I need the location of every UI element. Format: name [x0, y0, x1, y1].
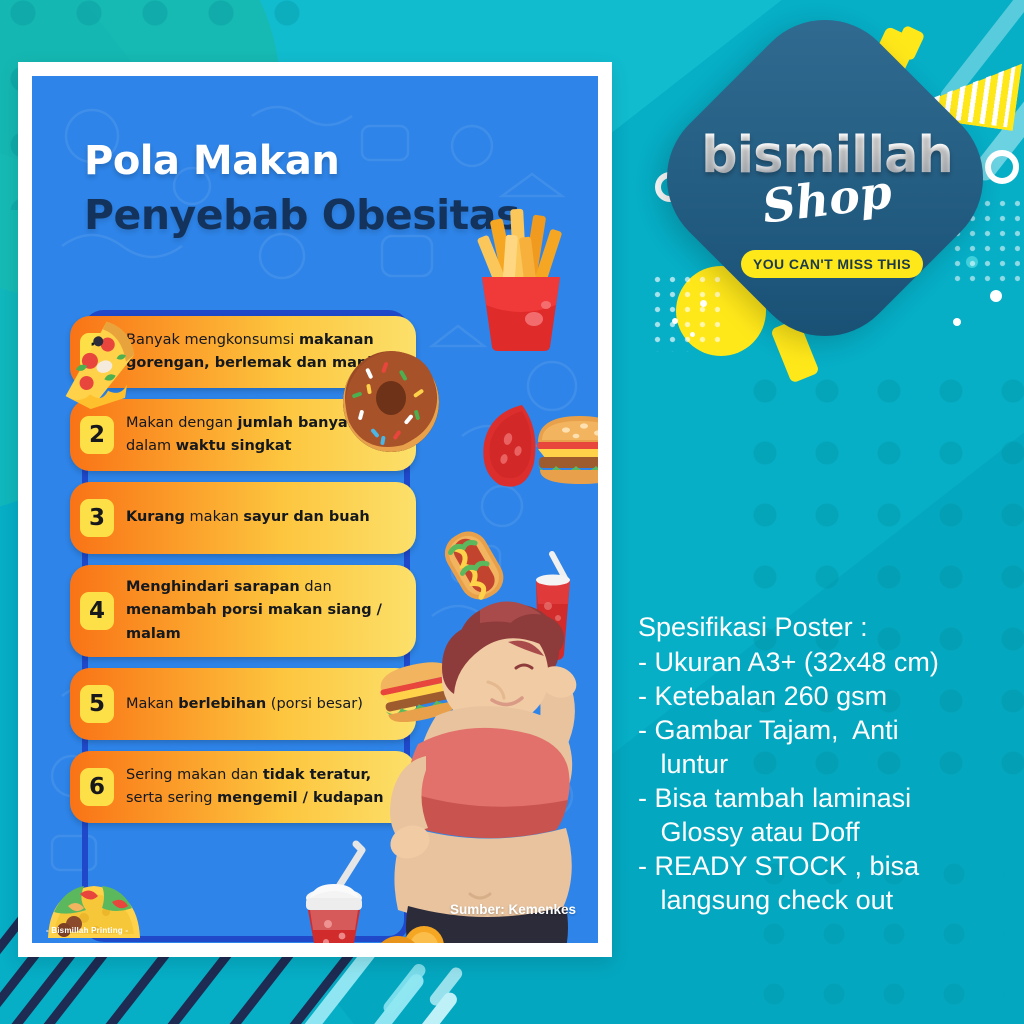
spec-line: - Ukuran A3+ (32x48 cm) [638, 645, 1024, 679]
tip-number-badge: 2 [80, 416, 114, 454]
tip-item: 3Kurang makan sayur dan buah [70, 482, 416, 554]
spec-line: - Gambar Tajam, Anti luntur [638, 713, 1024, 781]
tip-text: Sering makan dan tidak teratur, serta se… [126, 764, 402, 811]
obese-woman-illustration [384, 576, 598, 943]
tip-number-badge: 3 [80, 499, 114, 537]
tip-text: Menghindari sarapan dan menambah porsi m… [126, 576, 402, 646]
pizza-slice-icon [48, 318, 152, 414]
tip-number-badge: 5 [80, 685, 114, 723]
tip-item: 6Sering makan dan tidak teratur, serta s… [70, 751, 416, 823]
brand-tagline-pill: YOU CAN'T MISS THIS [741, 250, 923, 278]
orange-coin-icon [372, 924, 450, 943]
tip-item: 5Makan berlebihan (porsi besar) [70, 668, 416, 740]
spec-title: Spesifikasi Poster : [638, 612, 1024, 643]
poster-product-image: bismillah Shop YOU CAN'T MISS THIS Spesi… [0, 0, 1024, 1024]
printing-credit: - Bismillah Printing - [46, 926, 128, 935]
poster-canvas: Pola Makan Penyebab Obesitas 1Banyak men… [32, 76, 598, 943]
brand-tagline: YOU CAN'T MISS THIS [753, 256, 911, 272]
tip-number-badge: 6 [80, 768, 114, 806]
tip-number-badge: 4 [80, 592, 114, 630]
tip-item: 4Menghindari sarapan dan menambah porsi … [70, 565, 416, 657]
tip-text: Makan berlebihan (porsi besar) [126, 693, 363, 716]
brand-logo: bismillah Shop YOU CAN'T MISS THIS [657, 22, 997, 352]
milkshake-icon [290, 836, 380, 943]
hamburger-icon [532, 412, 598, 486]
spec-line: - READY STOCK , bisa langsung check out [638, 849, 1024, 917]
donut-icon [337, 344, 445, 456]
poster-title-line-1: Pola Makan [84, 138, 339, 184]
spec-line: - Bisa tambah laminasi Glossy atau Doff [638, 781, 1024, 849]
tip-text: Kurang makan sayur dan buah [126, 506, 370, 529]
poster-white-frame: Pola Makan Penyebab Obesitas 1Banyak men… [18, 62, 612, 957]
specification-block: Spesifikasi Poster : - Ukuran A3+ (32x48… [638, 612, 1024, 917]
spec-line: - Ketebalan 260 gsm [638, 679, 1024, 713]
french-fries-icon [466, 201, 576, 351]
source-label: Sumber: Kemenkes [450, 902, 576, 917]
poster-title-line-2: Penyebab Obesitas [84, 191, 520, 239]
